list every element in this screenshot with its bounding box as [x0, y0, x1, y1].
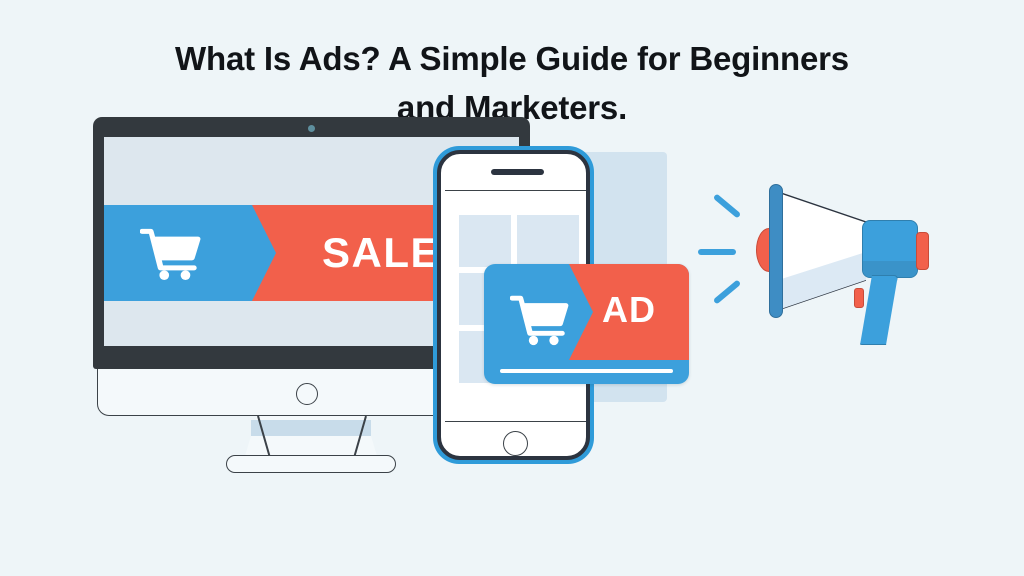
desktop-monitor: SALE	[93, 117, 433, 457]
illustration-stage: What Is Ads? A Simple Guide for Beginner…	[0, 0, 1024, 576]
shopping-cart-icon	[140, 225, 202, 281]
sale-label: SALE	[322, 224, 440, 282]
advertising-illustration: SALE	[0, 0, 1024, 576]
megaphone-body-shade	[863, 261, 918, 277]
sound-wave-line	[713, 193, 741, 218]
phone-home-button[interactable]	[503, 431, 528, 456]
sound-wave-line	[698, 249, 736, 255]
megaphone-back-cap	[916, 232, 929, 270]
phone-content-tile	[517, 215, 579, 267]
monitor-base-foot	[226, 455, 396, 473]
sound-wave-line	[713, 279, 741, 304]
monitor-power-button[interactable]	[296, 383, 318, 405]
megaphone	[700, 175, 950, 355]
megaphone-trigger[interactable]	[854, 288, 864, 308]
ad-label: AD	[602, 288, 656, 332]
webcam-icon	[308, 125, 315, 132]
monitor-stand-highlight	[251, 420, 371, 436]
ad-card-underline	[500, 369, 673, 373]
ad-banner-card[interactable]: AD	[484, 264, 689, 384]
phone-content-tile	[459, 215, 511, 267]
megaphone-rim-bar	[769, 184, 783, 318]
megaphone-cone	[772, 190, 866, 312]
megaphone-body	[862, 220, 918, 278]
phone-speaker-icon	[491, 169, 544, 175]
shopping-cart-icon	[510, 292, 570, 346]
